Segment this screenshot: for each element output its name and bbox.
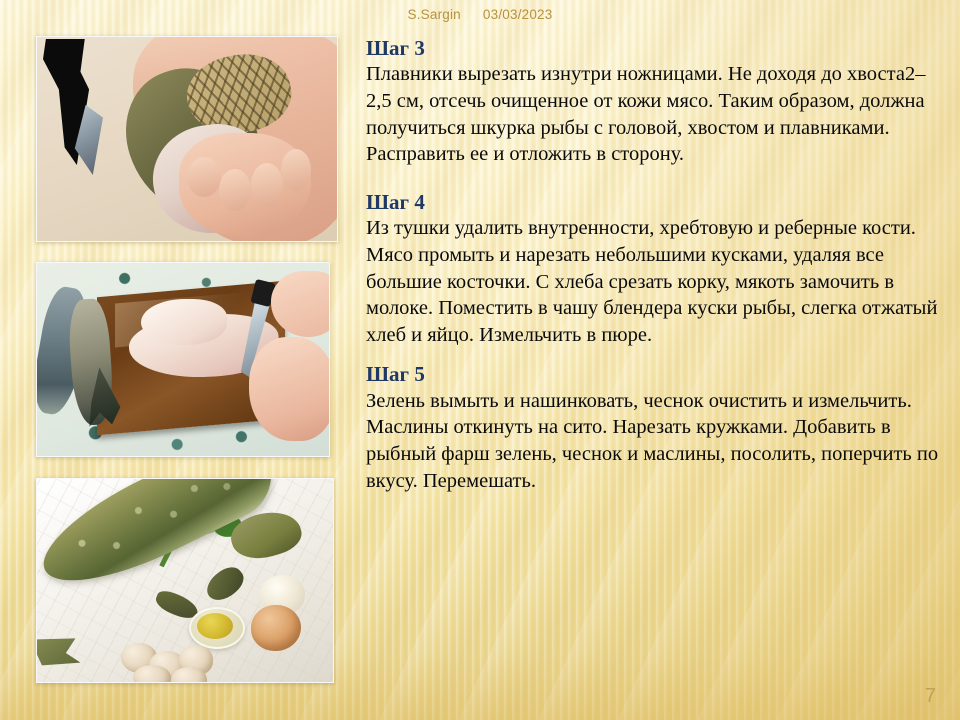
photo-2-canvas	[37, 263, 329, 456]
step-5-block: Шаг 5 Зелень вымыть и нашинковать, чесно…	[366, 362, 944, 494]
lower-hand-shape	[249, 337, 330, 441]
mushroom-shape	[133, 665, 171, 683]
fish-meat-shape	[141, 299, 227, 345]
olive-oil-shape	[197, 613, 233, 639]
step-5-title: Шаг 5	[366, 362, 944, 386]
knuckle-shape	[281, 149, 311, 191]
step-3-block: Шаг 3 Плавники вырезать изнутри ножницам…	[366, 36, 944, 168]
step-4-title: Шаг 4	[366, 190, 944, 214]
onion-shape	[251, 605, 301, 651]
header-author: S.Sargin	[408, 7, 461, 22]
knuckle-shape	[187, 157, 221, 197]
step-5-body: Зелень вымыть и нашинковать, чеснок очис…	[366, 388, 944, 495]
step-3-photo	[36, 36, 338, 242]
knuckle-shape	[219, 169, 251, 211]
knuckle-shape	[251, 163, 283, 207]
presentation-slide: S.Sargin03/03/2023	[0, 0, 960, 720]
step-4-block: Шаг 4 Из тушки удалить внутренности, хре…	[366, 190, 944, 349]
photo-3-canvas	[37, 479, 333, 682]
step-3-body: Плавники вырезать изнутри ножницами. Не …	[366, 61, 944, 168]
step-5-photo	[36, 478, 334, 683]
step-4-body: Из тушки удалить внутренности, хребтовую…	[366, 215, 944, 348]
steps-text-column: Шаг 3 Плавники вырезать изнутри ножницам…	[366, 36, 944, 512]
step-4-photo	[36, 262, 330, 457]
photo-1-canvas	[37, 37, 337, 241]
slide-header: S.Sargin03/03/2023	[0, 7, 960, 22]
step-3-title: Шаг 3	[366, 36, 944, 60]
page-number: 7	[925, 685, 936, 708]
header-date: 03/03/2023	[483, 7, 553, 22]
